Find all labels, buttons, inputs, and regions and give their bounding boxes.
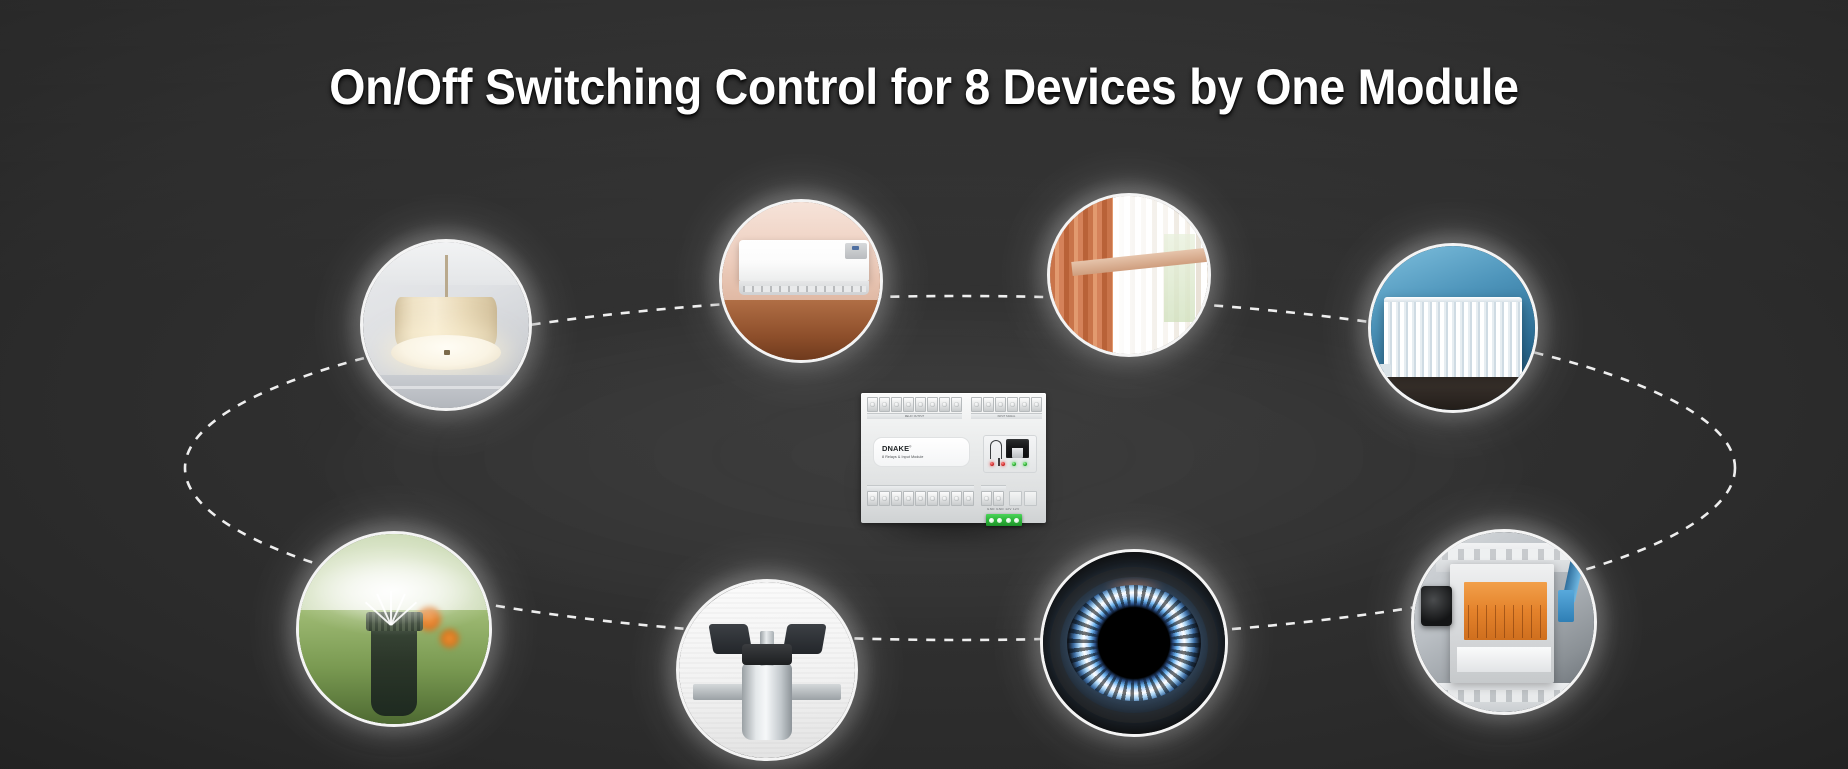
device-node-gas-burner[interactable] [1040,549,1228,737]
module-brand-plate: DNAKE® 8 Relays & Input Module [873,437,970,467]
terminal[interactable] [1031,397,1042,412]
input-signal-label-bar: INPUT SIGNAL [971,413,1042,419]
brand-text: DNAKE [882,444,909,453]
ethernet-panel[interactable] [983,435,1037,473]
fuse-slot-a[interactable] [1009,491,1022,506]
promo-banner: On/Off Switching Control for 8 Devices b… [0,0,1848,769]
terminal[interactable] [879,491,890,506]
terminal[interactable] [981,491,992,506]
terminal[interactable] [951,397,962,412]
relay-output-label-bar: RELAY OUTPUT [867,413,962,419]
device-node-electrical-panel[interactable] [1411,529,1597,715]
terminal[interactable] [867,397,878,412]
device-node-lamp[interactable] [360,239,532,411]
gas-burner-icon [1043,552,1225,734]
terminal[interactable] [993,491,1004,506]
background-top-sheen [0,0,1848,300]
power-pin[interactable] [989,518,994,523]
act-led [1023,462,1027,466]
fuse-slot-b[interactable] [1024,491,1037,506]
terminal[interactable] [995,397,1006,412]
bus-terminals-bottom[interactable] [981,491,1004,506]
terminal[interactable] [963,491,974,506]
lamp-icon [363,242,529,408]
valve-icon [679,582,855,758]
brand-name: DNAKE® [882,444,911,453]
power-pin[interactable] [997,518,1002,523]
relay-output-terminals-bottom[interactable] [867,491,974,506]
page-title: On/Off Switching Control for 8 Devices b… [65,58,1784,116]
terminal[interactable] [903,491,914,506]
model-name: 8 Relays & Input Module [882,455,923,459]
air-conditioner-icon [722,202,880,360]
device-node-radiator[interactable] [1368,243,1538,413]
terminal[interactable] [927,397,938,412]
terminal[interactable] [915,397,926,412]
status-led-group [990,462,1027,466]
relay-output-terminals-top[interactable] [867,397,962,412]
electrical-panel-icon [1414,532,1594,712]
device-node-sprinkler[interactable] [296,531,492,727]
rj45-ethernet-port[interactable] [1006,439,1029,458]
terminal[interactable] [915,491,926,506]
terminal[interactable] [1019,397,1030,412]
terminal[interactable] [927,491,938,506]
terminal[interactable] [879,397,890,412]
terminal[interactable] [951,491,962,506]
terminal[interactable] [903,397,914,412]
terminal[interactable] [983,397,994,412]
link-led [1012,462,1016,466]
power-led [990,462,994,466]
input-signal-terminals-top[interactable] [971,397,1042,412]
terminal[interactable] [939,491,950,506]
module-housing: RELAY OUTPUT INPUT SIGNAL DNAKE® 8 Relay… [861,393,1046,523]
device-node-air-conditioner[interactable] [719,199,883,363]
terminal[interactable] [939,397,950,412]
terminal[interactable] [971,397,982,412]
power-pin[interactable] [1014,518,1019,523]
status-led [1001,462,1005,466]
device-node-valve[interactable] [676,579,858,761]
terminal[interactable] [867,491,878,506]
relay-module[interactable]: RELAY OUTPUT INPUT SIGNAL DNAKE® 8 Relay… [861,393,1046,529]
curtain-icon [1050,196,1208,354]
trademark-mark: ® [909,445,911,449]
power-connector-label: GND GND 12V 12V [987,507,1020,511]
antenna-icon [990,440,1002,459]
terminal[interactable] [1007,397,1018,412]
terminal[interactable] [891,491,902,506]
device-node-curtain[interactable] [1047,193,1211,357]
sprinkler-icon [299,534,489,724]
radiator-icon [1371,246,1535,410]
power-pin[interactable] [1006,518,1011,523]
terminal[interactable] [891,397,902,412]
power-connector[interactable] [986,514,1022,526]
